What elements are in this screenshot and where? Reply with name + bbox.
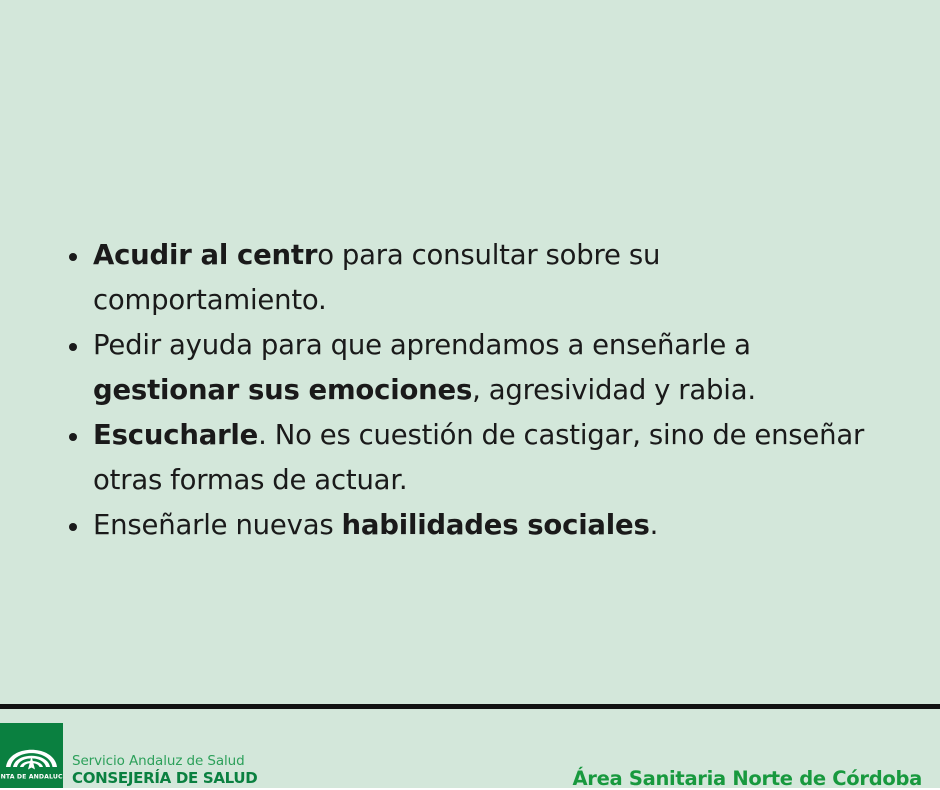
organization-line1: Servicio Andaluz de Salud: [72, 754, 257, 770]
bullet-text-3-2: .: [650, 509, 659, 541]
bullet-habilidades-sociales: Enseñarle nuevas habilidades sociales.: [56, 503, 866, 548]
bullet-emphasis-2-0: Escucharle: [93, 419, 258, 451]
bullet-pedir-ayuda: Pedir ayuda para que aprendamos a enseña…: [56, 323, 866, 413]
bullet-acudir-al-centro: Acudir al centro para consultar sobre su…: [56, 233, 866, 323]
organization-line2: CONSEJERÍA DE SALUD: [72, 770, 257, 787]
bullet-text-3-0: Enseñarle nuevas: [93, 509, 342, 541]
slide-content: Acudir al centro para consultar sobre su…: [0, 0, 940, 705]
junta-de-andalucia-logo: JUNTA DE ANDALUCIA: [0, 723, 63, 788]
logo-caption: JUNTA DE ANDALUCIA: [0, 774, 63, 781]
bullet-text-1-2: , agresividad y rabia.: [472, 374, 756, 406]
andalucia-arches-icon: JUNTA DE ANDALUCIA: [0, 723, 63, 788]
slide-footer: JUNTA DE ANDALUCIA Servicio Andaluz de S…: [0, 709, 940, 788]
organization-text: Servicio Andaluz de Salud CONSEJERÍA DE …: [72, 754, 257, 787]
slide: Acudir al centro para consultar sobre su…: [0, 0, 940, 788]
bullet-emphasis-0-0: Acudir al centr: [93, 239, 317, 271]
bullet-escucharle: Escucharle. No es cuestión de castigar, …: [56, 413, 866, 503]
bullet-emphasis-1-1: gestionar sus emociones: [93, 374, 472, 406]
bullet-list: Acudir al centro para consultar sobre su…: [56, 233, 866, 548]
bullet-text-1-0: Pedir ayuda para que aprendamos a enseña…: [93, 329, 751, 361]
bullet-emphasis-3-1: habilidades sociales: [342, 509, 650, 541]
area-label: Área Sanitaria Norte de Córdoba: [572, 767, 922, 790]
